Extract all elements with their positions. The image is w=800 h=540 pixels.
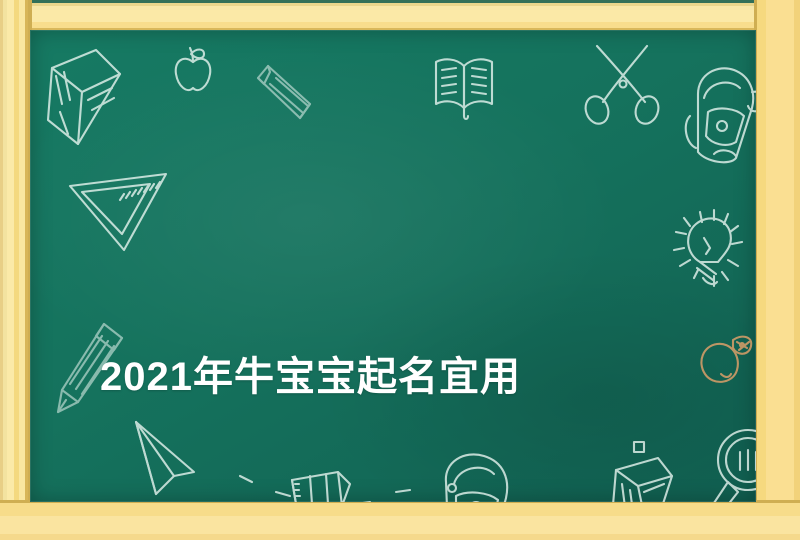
backpack-icon bbox=[678, 58, 756, 170]
apple-icon bbox=[170, 44, 216, 96]
notebook-stack-icon bbox=[38, 42, 128, 152]
open-book-icon bbox=[430, 52, 500, 122]
chalkboard-surface: 2021年牛宝宝起名宜用 字_牛宝宝取名字大全 bbox=[30, 30, 756, 502]
page-title-line-1: 2021年牛宝宝起名宜用 bbox=[100, 346, 720, 408]
crayon-icon bbox=[252, 62, 322, 126]
frame-bottom-border bbox=[0, 500, 800, 540]
frame-left-border bbox=[0, 0, 32, 540]
scissors-icon bbox=[585, 38, 665, 128]
frame-right-border bbox=[754, 0, 800, 540]
title-card-page: 2021年牛宝宝起名宜用 字_牛宝宝取名字大全 bbox=[0, 0, 800, 540]
page-title: 2021年牛宝宝起名宜用 字_牛宝宝取名字大全 bbox=[100, 222, 720, 502]
